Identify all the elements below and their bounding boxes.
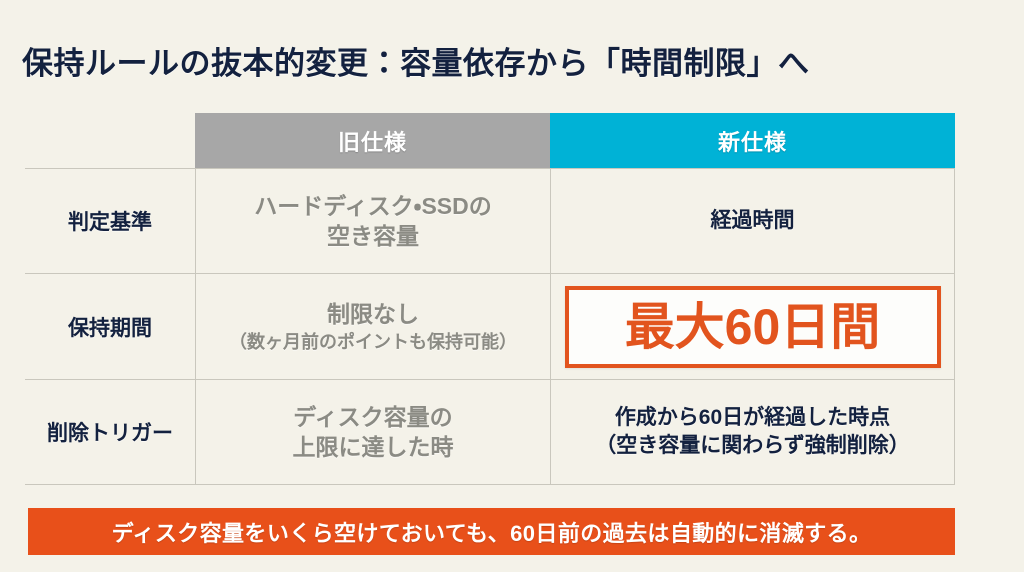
cell-new-criteria: 経過時間 xyxy=(550,169,955,273)
row-label-delete-trigger: 削除トリガー xyxy=(25,380,195,484)
header-label-spacer xyxy=(25,113,195,168)
cell-old-retention-period: 制限なし （数ヶ月前のポイントも保持可能） xyxy=(195,274,550,379)
cell-old-criteria-line2: 空き容量 xyxy=(254,221,492,251)
highlight-text-max-60-days: 最大60日間 xyxy=(625,302,881,352)
cell-old-delete-trigger: ディスク容量の 上限に達した時 xyxy=(195,380,550,484)
comparison-table: 旧仕様 新仕様 判定基準 ハードディスク・SSDの 空き容量 経過時間 保持期間 xyxy=(25,113,955,485)
row-label-retention-period: 保持期間 xyxy=(25,274,195,379)
highlight-box-max-60-days: 最大60日間 xyxy=(565,286,941,368)
column-header-new-spec: 新仕様 xyxy=(550,113,955,168)
column-header-old-spec: 旧仕様 xyxy=(195,113,550,168)
table-row: 保持期間 制限なし （数ヶ月前のポイントも保持可能） 最大60日間 xyxy=(25,273,955,379)
table-row: 削除トリガー ディスク容量の 上限に達した時 作成から60日が経過した時点 （空… xyxy=(25,379,955,485)
bottom-callout-banner: ディスク容量をいくら空けておいても、60日前の過去は自動的に消滅する。 xyxy=(28,508,955,555)
page-title: 保持ルールの抜本的変更：容量依存から「時間制限」へ xyxy=(22,38,810,83)
cell-new-trigger-line2: （空き容量に関わらず強制削除） xyxy=(595,432,910,460)
table-header-row: 旧仕様 新仕様 xyxy=(25,113,955,168)
cell-old-criteria: ハードディスク・SSDの 空き容量 xyxy=(195,169,550,273)
cell-new-retention-period: 最大60日間 xyxy=(550,274,955,379)
cell-old-trigger-line1: ディスク容量の xyxy=(293,402,454,432)
cell-old-trigger-line2: 上限に達した時 xyxy=(293,432,454,462)
row-label-criteria: 判定基準 xyxy=(25,169,195,273)
cell-new-delete-trigger: 作成から60日が経過した時点 （空き容量に関わらず強制削除） xyxy=(550,380,955,484)
table-row: 判定基準 ハードディスク・SSDの 空き容量 経過時間 xyxy=(25,168,955,273)
cell-new-trigger-line1: 作成から60日が経過した時点 xyxy=(595,404,910,432)
cell-old-criteria-line1: ハードディスク・SSDの xyxy=(254,191,492,221)
cell-old-retention-line2: （数ヶ月前のポイントも保持可能） xyxy=(229,330,517,354)
slide-canvas: 保持ルールの抜本的変更：容量依存から「時間制限」へ 旧仕様 新仕様 判定基準 ハ… xyxy=(0,0,1024,572)
cell-new-criteria-line1: 経過時間 xyxy=(711,207,795,235)
cell-old-retention-line1: 制限なし xyxy=(229,299,517,329)
bottom-callout-text: ディスク容量をいくら空けておいても、60日前の過去は自動的に消滅する。 xyxy=(112,516,872,548)
